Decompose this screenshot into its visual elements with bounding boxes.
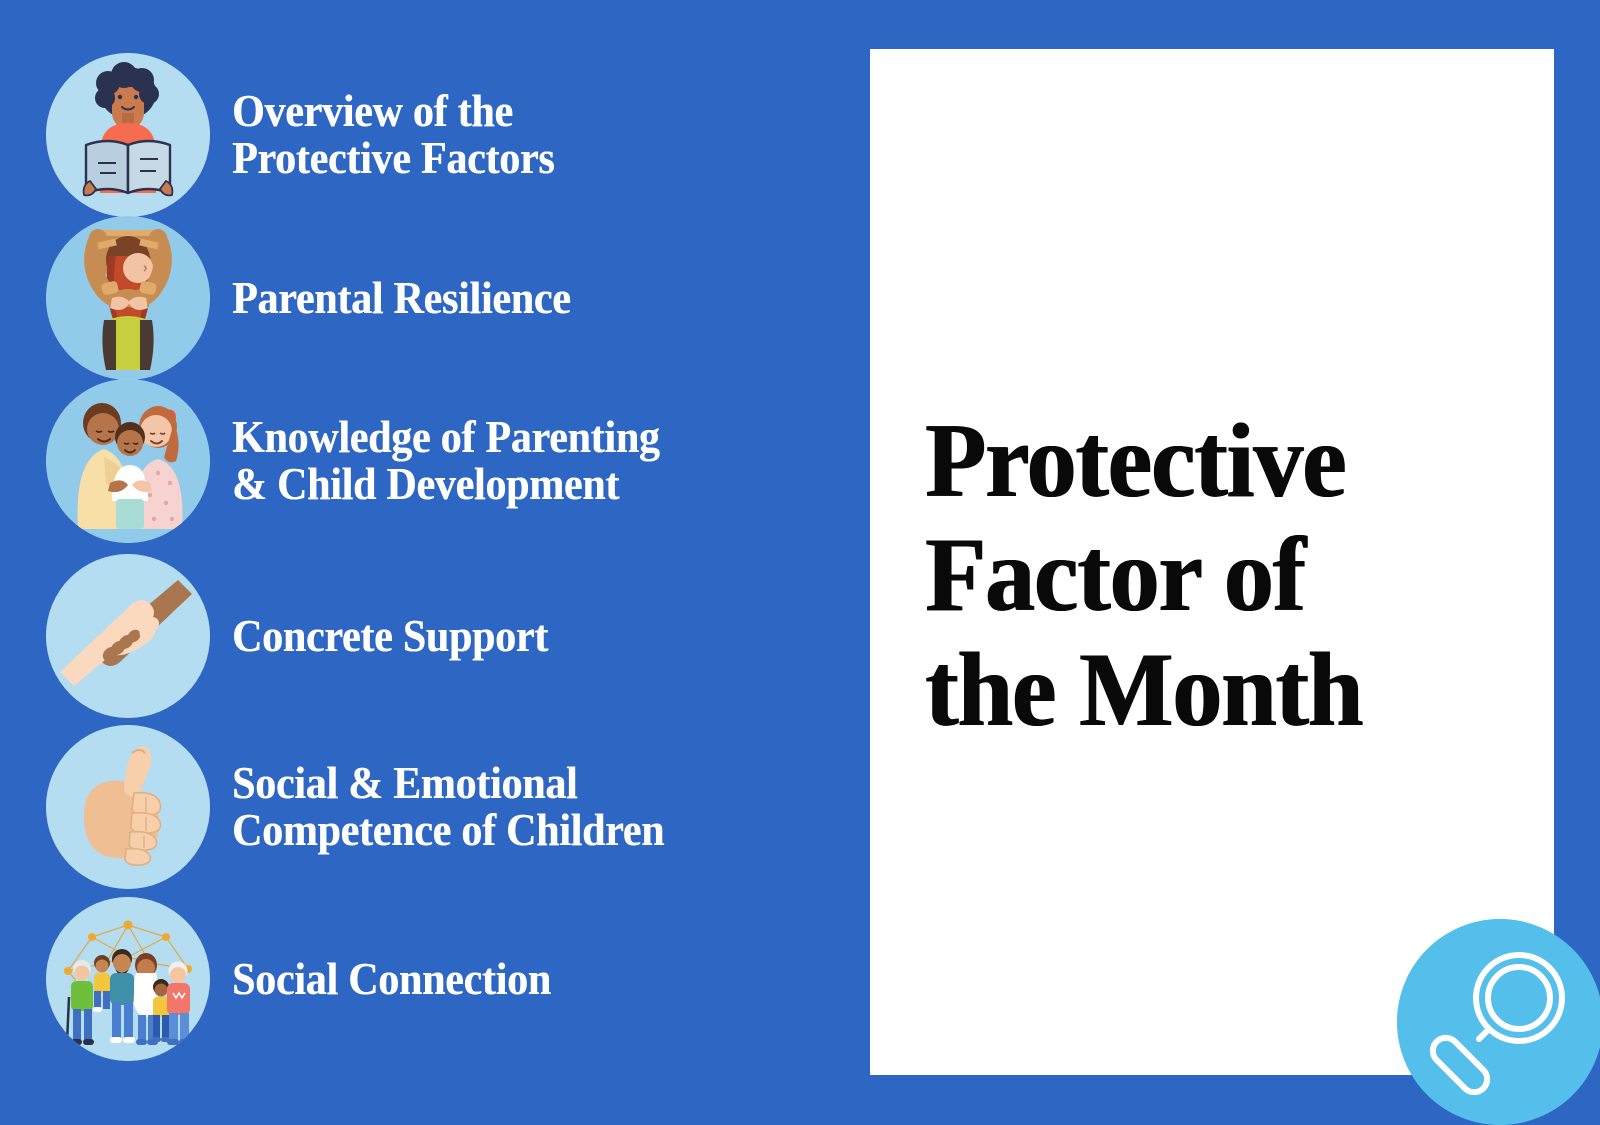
- factor-item-label: Social Connection: [232, 956, 551, 1003]
- factor-item-parental-resilience[interactable]: Parental Resilience: [46, 216, 806, 380]
- clasped-helping-hands-icon: [46, 554, 210, 718]
- factor-item-concrete-support[interactable]: Concrete Support: [46, 554, 806, 718]
- factor-item-label: Knowledge of Parenting & Child Developme…: [232, 414, 660, 508]
- factor-item-social-connection[interactable]: Social Connection: [46, 897, 806, 1061]
- factor-item-overview[interactable]: Overview of the Protective Factors: [46, 53, 806, 217]
- factor-item-label: Parental Resilience: [232, 275, 571, 322]
- thumbs-up-icon: [46, 725, 210, 889]
- hero-card: Protective Factor of the Month: [870, 49, 1554, 1075]
- woman-reading-book-icon: [46, 53, 210, 217]
- factor-item-label: Overview of the Protective Factors: [232, 88, 554, 182]
- magnifying-glass-icon[interactable]: [1397, 919, 1600, 1125]
- factor-item-label: Social & Emotional Competence of Childre…: [232, 760, 664, 854]
- factor-item-label: Concrete Support: [232, 613, 548, 660]
- embracing-hug-icon: [46, 216, 210, 380]
- protective-factor-list: Overview of the Protective Factors: [0, 0, 830, 1125]
- factor-item-knowledge-parenting[interactable]: Knowledge of Parenting & Child Developme…: [46, 379, 806, 543]
- factor-item-social-emotional[interactable]: Social & Emotional Competence of Childre…: [46, 725, 806, 889]
- family-with-child-heart-icon: [46, 379, 210, 543]
- community-network-group-icon: [46, 897, 210, 1061]
- page-title: Protective Factor of the Month: [925, 404, 1489, 747]
